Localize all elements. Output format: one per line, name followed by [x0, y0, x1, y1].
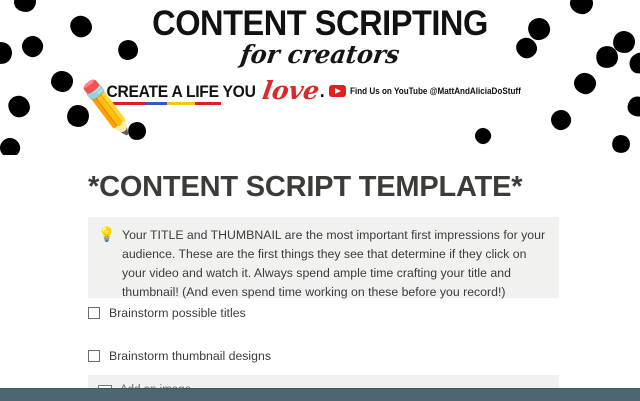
color-bar-segment-yellow — [167, 102, 195, 105]
pencil-icon: ✏️ — [75, 80, 138, 134]
header-banner: CONTENT SCRIPTING for creators CREATE A … — [0, 0, 640, 155]
color-bar-segment-blue — [146, 102, 167, 105]
checklist-item[interactable]: Brainstorm possible titles — [88, 306, 246, 320]
polka-dot — [547, 106, 575, 134]
tip-callout-text: Your TITLE and THUMBNAIL are the most im… — [122, 226, 547, 289]
page-title: *CONTENT SCRIPT TEMPLATE* — [88, 171, 522, 204]
add-image-panel[interactable]: Add an image — [88, 375, 559, 388]
youtube-handle-row: Find Us on YouTube @MattAndAliciaDoStuff — [329, 85, 540, 97]
tagline-accent-text: love — [260, 76, 321, 105]
banner-subheadline: for creators — [11, 42, 629, 67]
lightbulb-icon: 💡 — [98, 226, 114, 289]
color-bar-segment-red-2 — [195, 102, 221, 105]
checklist-item-label: Brainstorm possible titles — [109, 306, 246, 320]
polka-dot — [0, 135, 23, 155]
bottom-status-bar — [0, 388, 640, 401]
checklist-item[interactable]: Brainstorm thumbnail designs — [88, 349, 271, 363]
document-page: CONTENT SCRIPTING for creators CREATE A … — [0, 0, 640, 388]
checkbox-icon[interactable] — [88, 350, 100, 362]
banner-headline: CONTENT SCRIPTING — [22, 6, 617, 41]
tagline-period: . — [320, 81, 325, 102]
youtube-handle-label: Find Us on YouTube @MattAndAliciaDoStuff — [350, 86, 521, 96]
checklist-item-label: Brainstorm thumbnail designs — [109, 349, 271, 363]
youtube-play-icon — [329, 85, 346, 97]
tip-callout-box: 💡 Your TITLE and THUMBNAIL are the most … — [88, 217, 559, 298]
polka-dot — [473, 126, 494, 147]
checkbox-icon[interactable] — [88, 307, 100, 319]
polka-dot — [610, 133, 632, 155]
